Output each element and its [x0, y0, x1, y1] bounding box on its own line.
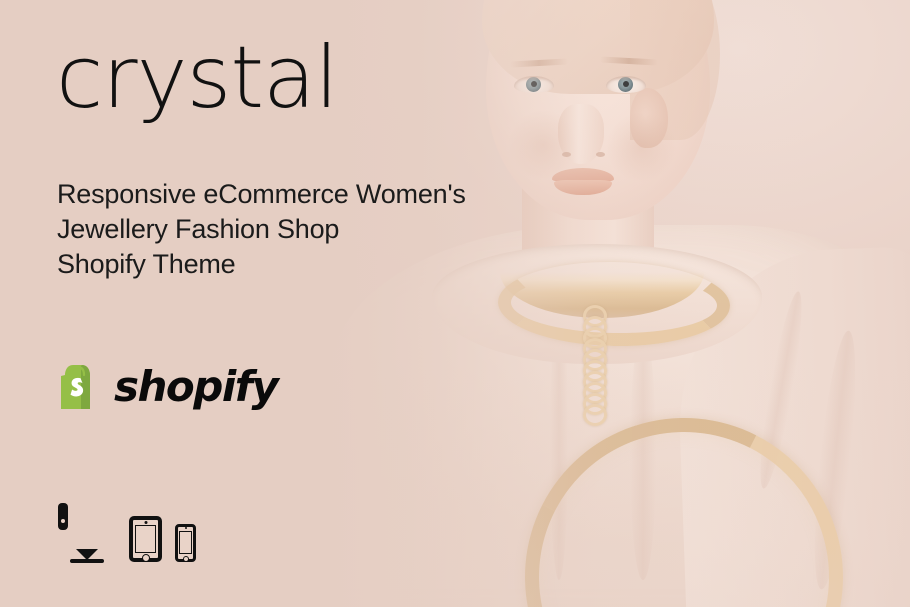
tablet-icon [129, 516, 162, 562]
responsive-device-icons [58, 508, 196, 562]
shopify-bag-icon [57, 362, 101, 412]
tagline: Responsive eCommerce Women's Jewellery F… [57, 177, 466, 282]
theme-preview-banner: crystal Responsive eCommerce Women's Jew… [0, 0, 910, 607]
shopify-wordmark: shopify [114, 366, 277, 408]
shopify-lockup: shopify [57, 362, 277, 412]
tagline-line-1: Responsive eCommerce Women's [57, 177, 466, 212]
smartphone-icon [175, 524, 196, 562]
tagline-line-2: Jewellery Fashion Shop [57, 212, 466, 247]
brand-logo: crystal [56, 35, 338, 121]
desktop-monitor-icon [58, 508, 116, 562]
tagline-line-3: Shopify Theme [57, 247, 466, 282]
